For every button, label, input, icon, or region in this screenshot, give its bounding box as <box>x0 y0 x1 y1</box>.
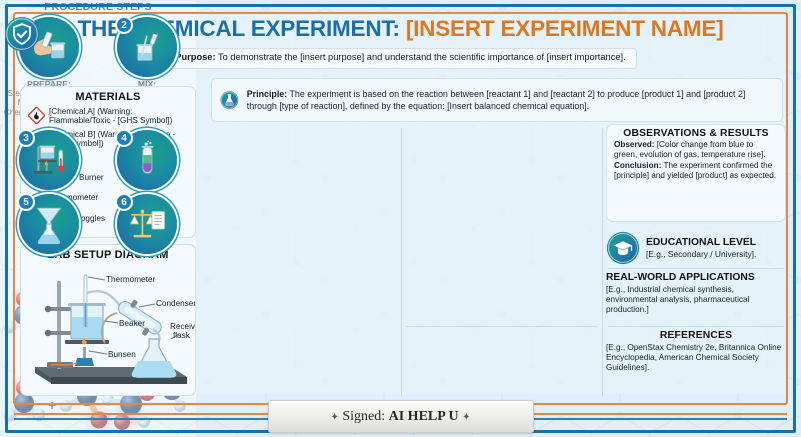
educational-level-title: EDUCATIONAL LEVEL <box>646 237 756 248</box>
educational-level-value: [E.g., Secondary / University]. <box>646 249 756 259</box>
step-circle: 6 <box>117 194 177 254</box>
infographic-poster: THE CHEMICAL EXPERIMENT: [INSERT EXPERIM… <box>0 0 801 437</box>
title-placeholder-text: [INSERT EXPERIMENT NAME] <box>406 16 724 41</box>
purpose-text: To demonstrate the [insert purpose] and … <box>216 52 626 62</box>
label-receiving-flask-2: flask <box>173 331 191 340</box>
principle-label: Principle: <box>247 89 287 99</box>
divider-reaction-right <box>602 128 603 396</box>
principle-text-wrap: Principle: The experiment is based on th… <box>247 88 774 112</box>
step-number-badge: 2 <box>115 16 133 34</box>
label-beaker: Beaker <box>119 319 145 328</box>
divider-rwa-refs <box>608 326 784 327</box>
signature-ribbon: ✦ Signed: AI HELP U ✦ <box>268 400 534 433</box>
label-condenser: Condenser <box>156 299 196 308</box>
filter-funnel-flask-icon <box>29 204 69 244</box>
lab-setup-panel: LAB SETUP DIAGRAM <box>20 244 196 396</box>
real-world-applications-panel: REAL-WORLD APPLICATIONS [E.g., Industria… <box>606 272 786 324</box>
label-bunsen: Bunsen <box>108 350 136 359</box>
step-circle: 3 <box>19 130 79 190</box>
real-world-title: REAL-WORLD APPLICATIONS <box>606 272 786 283</box>
list-item: [Chemical A] (Warning: Flammable/Toxic -… <box>27 107 189 129</box>
lab-setup-diagram: Thermometer Condenser Beaker Receiving f… <box>21 263 196 395</box>
real-world-text: [E.g., Industrial chemical synthesis, en… <box>606 285 786 315</box>
signed-label: Signed: <box>342 409 385 424</box>
observations-panel: OBSERVATIONS & RESULTS Observed: [Color … <box>606 124 786 222</box>
divider-procedure-reaction <box>401 128 402 396</box>
label-receiving-flask-1: Receiving <box>170 322 196 331</box>
principle-text: The experiment is based on the reaction … <box>247 89 746 111</box>
step-circle: 5 <box>19 194 79 254</box>
conclusion-paragraph: Conclusion: The experiment confirmed the… <box>614 161 778 181</box>
purpose-box: Purpose: To demonstrate the [insert purp… <box>164 48 636 69</box>
conclusion-label: Conclusion: <box>614 161 661 170</box>
principle-box: Principle: The experiment is based on th… <box>211 78 783 122</box>
observations-title: OBSERVATIONS & RESULTS <box>607 128 785 139</box>
materials-title: MATERIALS <box>69 91 146 103</box>
references-panel: REFERENCES [E.g., OpenStax Chemistry 2e,… <box>606 330 786 392</box>
label-thermometer: Thermometer <box>106 275 155 284</box>
divider-edu-rwa <box>608 268 784 269</box>
list-item-label: [Chemical A] (Warning: Flammable/Toxic -… <box>49 107 189 125</box>
step-circle: 4 <box>117 130 177 190</box>
signature-text: ✦ Signed: AI HELP U ✦ <box>330 409 470 425</box>
observed-paragraph: Observed: [Color change from blue to gre… <box>614 140 778 160</box>
flask-icon <box>220 85 239 115</box>
observed-label: Observed: <box>614 140 655 149</box>
observations-body: Observed: [Color change from blue to gre… <box>607 139 785 180</box>
ghs-flammable-icon <box>27 107 45 129</box>
references-text: [E.g., OpenStax Chemistry 2e, Britannica… <box>606 343 786 373</box>
dropper-stirring-beaker-icon <box>127 27 167 67</box>
star-right-icon: ✦ <box>462 412 470 423</box>
balance-scale-report-icon <box>127 204 167 244</box>
poster-footer: ✦ Signed: AI HELP U ✦ <box>0 397 801 437</box>
graduation-cap-icon <box>606 231 640 265</box>
educational-level-panel: EDUCATIONAL LEVEL [E.g., Secondary / Uni… <box>606 228 786 268</box>
test-tube-bubbles-icon <box>127 140 167 180</box>
step-circle: 2 <box>117 17 177 77</box>
educational-level-text: EDUCATIONAL LEVEL [E.g., Secondary / Uni… <box>646 237 756 259</box>
signed-name: AI HELP U <box>389 409 459 424</box>
star-left-icon: ✦ <box>330 412 338 423</box>
references-title: REFERENCES <box>606 330 786 341</box>
divider-reaction-safety <box>406 326 598 327</box>
shield-check-icon <box>4 16 40 52</box>
heating-stand-thermometer-icon <box>29 140 69 180</box>
purpose-label: Purpose: <box>175 52 215 62</box>
